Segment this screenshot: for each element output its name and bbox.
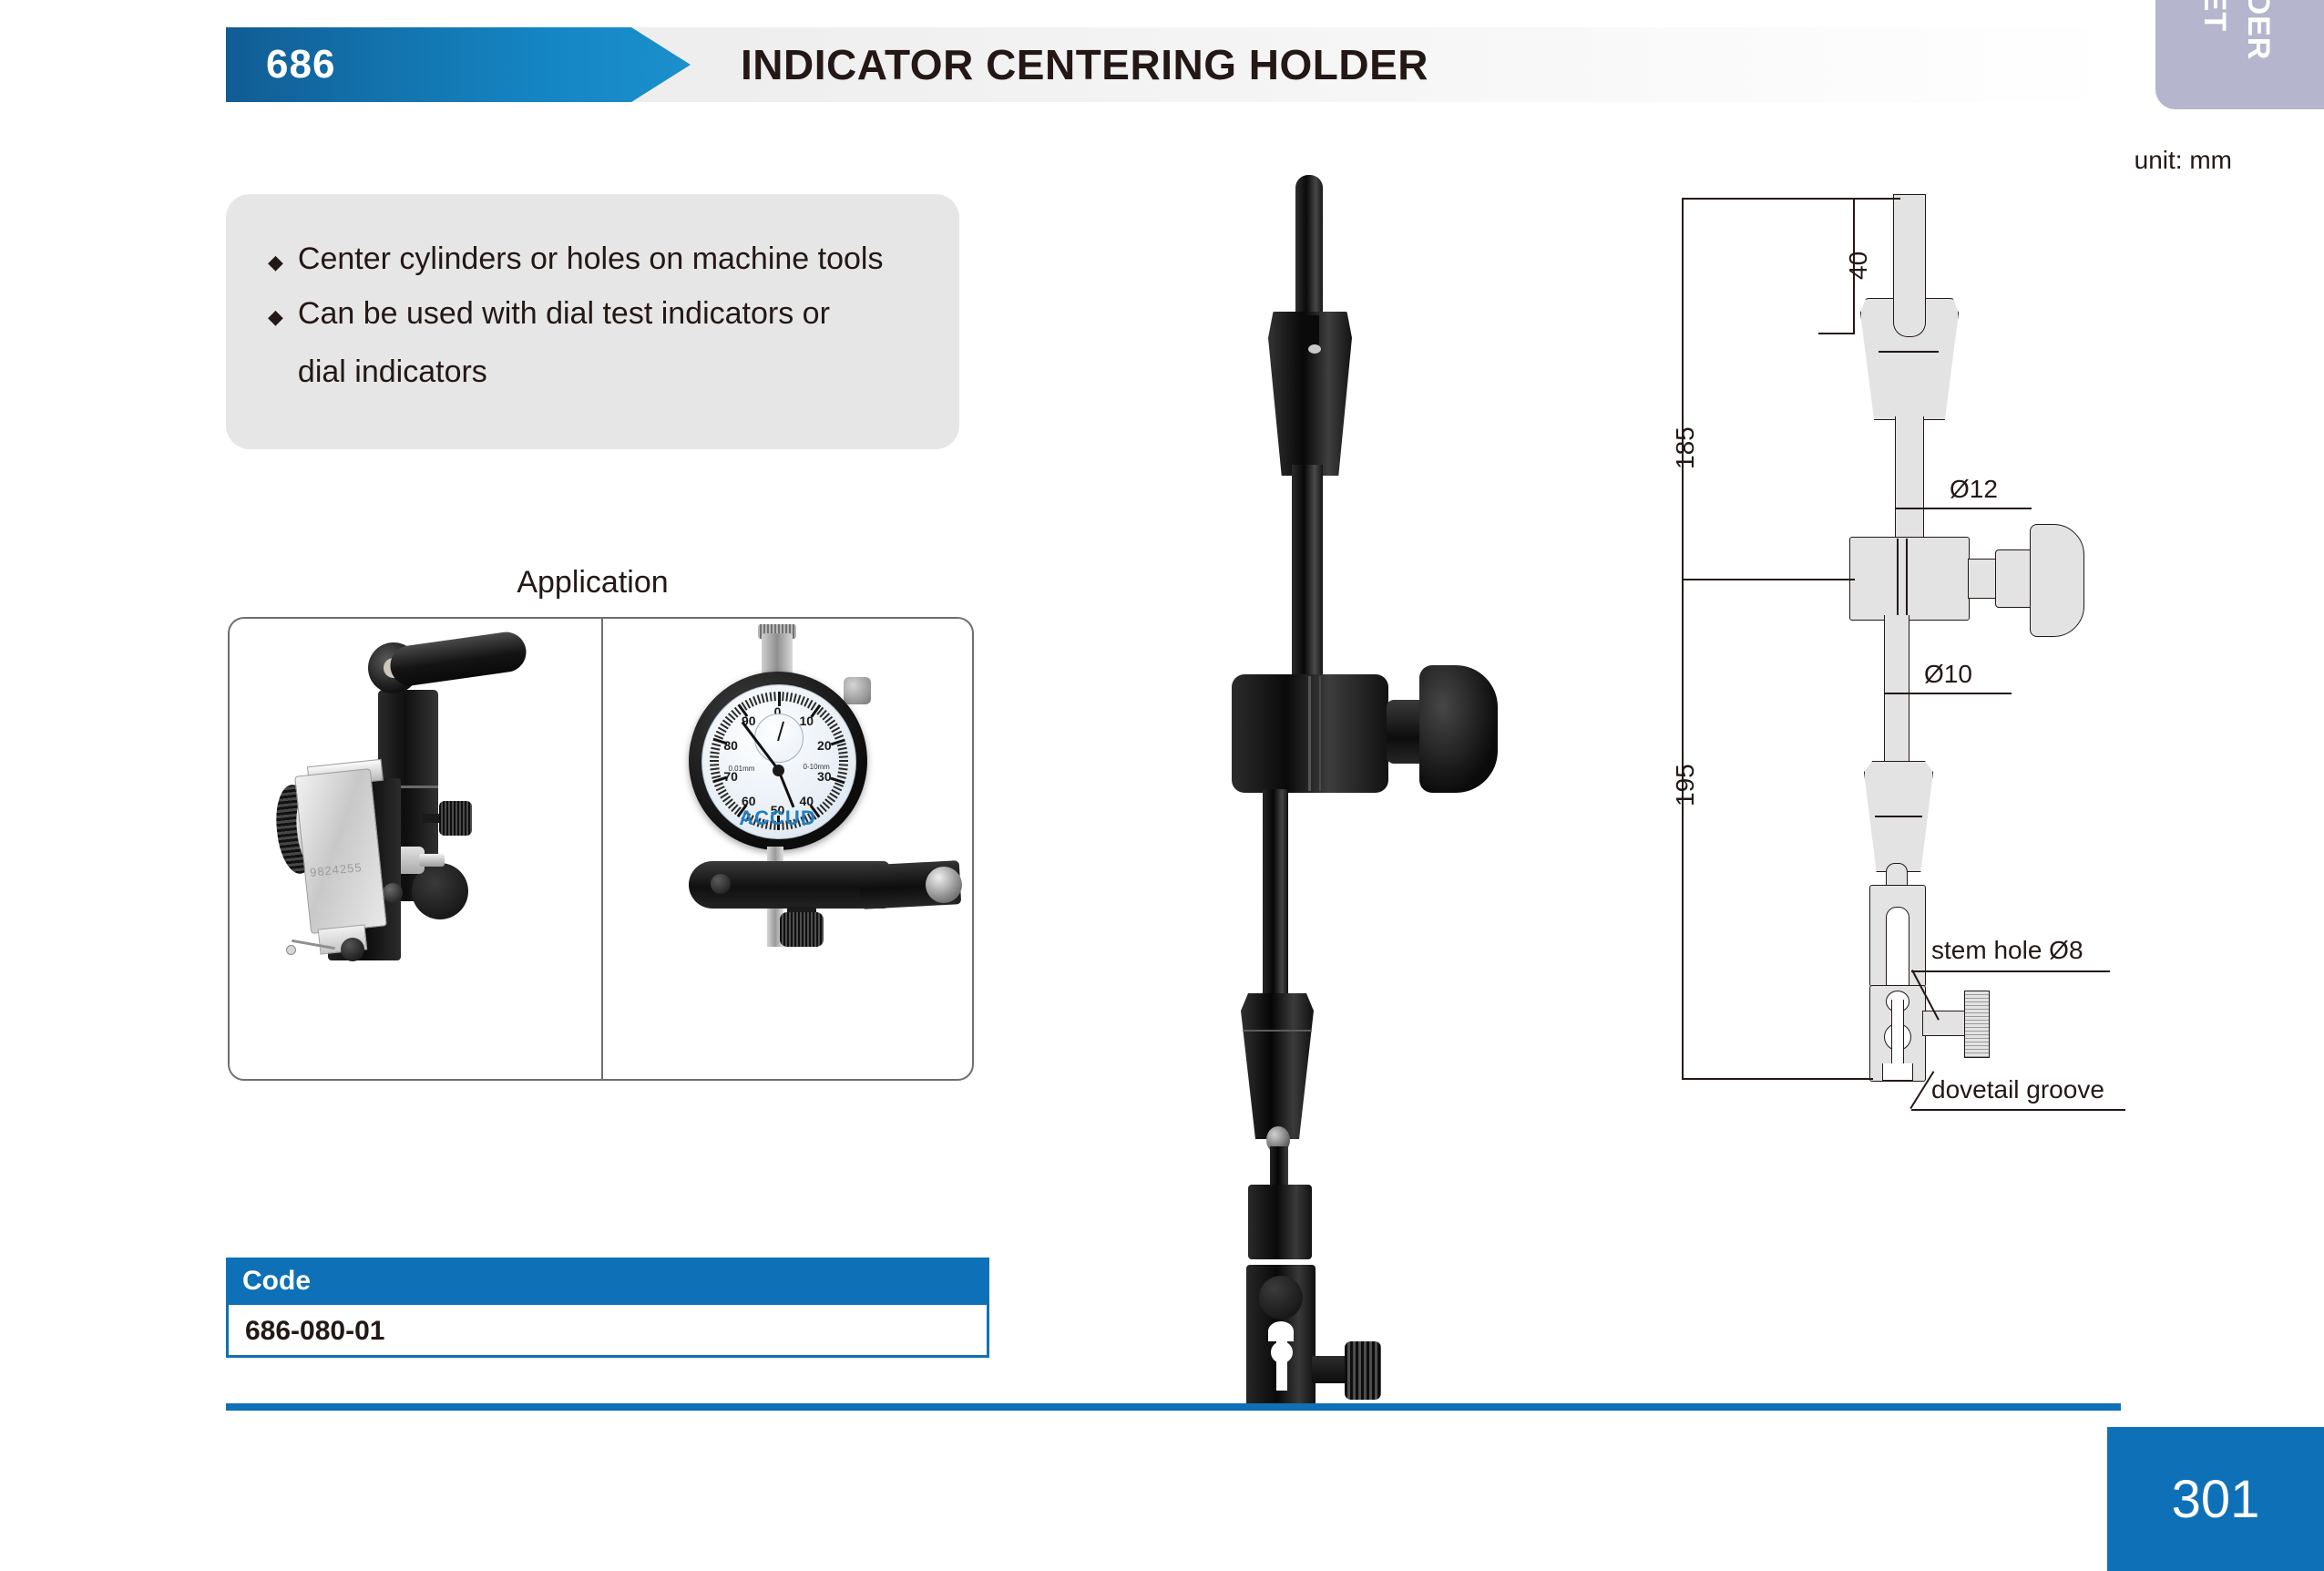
product-collar-hole [1308, 344, 1321, 354]
application-photo-frame: 9824255 0102030405060708090 0.01mm 0-10m… [228, 617, 974, 1081]
technical-drawing: unit: mm [1667, 169, 2232, 1235]
dim-185-ext-bottom [1682, 579, 1855, 580]
holder-clamp-arm-screw [711, 874, 731, 894]
drawing-center-hub [1849, 537, 1970, 621]
product-clamp-block-upper [1248, 1185, 1312, 1259]
corner-tab-line2: SET [2196, 0, 2232, 32]
code-table-header: Code [226, 1258, 989, 1305]
product-dovetail-hole [1271, 1341, 1293, 1363]
product-locking-knob [1419, 665, 1498, 793]
ann-dovetail-text: dovetail groove [1931, 1075, 2104, 1104]
drawing-hub-seam-1 [1897, 539, 1899, 617]
dial-indicator-brand: ACCUD [739, 806, 815, 830]
dial-tick [773, 692, 776, 701]
dim-40-ext-bottom [1818, 333, 1855, 334]
feature-text: Center cylinders or holes on machine too… [298, 241, 884, 276]
dial-tick [838, 755, 847, 758]
dim-185-text: 185 [1671, 426, 1700, 469]
dial-tick [785, 692, 788, 701]
table-row: 686-080-01 [226, 1305, 989, 1358]
page-number-badge: 301 [2107, 1427, 2324, 1571]
application-photo-right: 0102030405060708090 0.01mm 0-10mm ACCUD [601, 619, 973, 1079]
corner-tab-line1: NDER [2240, 0, 2276, 60]
dim-195-line [1682, 580, 1684, 1080]
indicator-pivot-pin [419, 854, 445, 867]
dial-indicator-needle-hub [773, 765, 784, 776]
holder-ball-joint [926, 867, 962, 903]
drawing-unit-label: unit: mm [2135, 146, 2232, 175]
product-lower-collar-seam [1243, 1030, 1312, 1032]
list-item: ◆ Center cylinders or holes on machine t… [268, 241, 937, 276]
dial-tick [711, 771, 720, 775]
dial-tick [839, 760, 848, 762]
dial-number: 80 [723, 738, 738, 753]
product-photo [1130, 137, 1521, 1321]
dial-tick [789, 693, 793, 702]
dial-tick [838, 751, 847, 754]
product-clamp-disc [1259, 1276, 1303, 1319]
drawing-top-stem [1893, 194, 1926, 303]
product-clamp-knurled-knob [1345, 1341, 1381, 1400]
test-indicator-contact-ball [286, 945, 296, 955]
holder-body-screw [383, 883, 403, 903]
list-item: ◆ Can be used with dial test indicators … [268, 296, 937, 389]
product-lower-rod [1263, 789, 1288, 1017]
dial-tick [782, 692, 784, 701]
dial-tick [710, 755, 719, 758]
page-header: 686 INDICATOR CENTERING HOLDER [226, 27, 2121, 102]
ann-stem-hole-text: stem hole Ø8 [1931, 936, 2083, 965]
dial-tick [793, 693, 796, 703]
product-lower-collar [1241, 993, 1314, 1139]
dim-185-line [1682, 198, 1684, 580]
ann-dovetail-leader-h [1911, 1109, 2125, 1111]
feature-text-line2: dial indicators [298, 354, 830, 389]
dim-40-ext-top [1818, 198, 1855, 200]
dim-195-text: 195 [1671, 764, 1700, 806]
dial-indicator-range-label: 0-10mm [804, 763, 830, 772]
dim-40-text: 40 [1844, 252, 1873, 280]
footer-rule [226, 1403, 2121, 1411]
application-label: Application [226, 565, 959, 601]
dial-indicator-lug [844, 677, 871, 704]
features-list: ◆ Center cylinders or holes on machine t… [268, 241, 937, 409]
ann-stem-hole-leader-h [1911, 970, 2110, 972]
catalog-page: 686 INDICATOR CENTERING HOLDER NDER SET … [0, 0, 2324, 1571]
section-corner-tab: NDER SET [2155, 0, 2324, 109]
drawing-clamp-screw-knob [1964, 991, 1990, 1058]
dial-tick [710, 764, 719, 766]
test-indicator-body [294, 768, 387, 934]
feature-text-line1: Can be used with dial test indicators or [298, 296, 830, 331]
drawing-dovetail-groove-notch [1882, 1063, 1913, 1081]
holder-handle [388, 630, 529, 688]
dim-185-ext-top [1682, 198, 1900, 200]
test-indicator-clamp-screw [341, 938, 364, 961]
feature-text: Can be used with dial test indicators or… [298, 296, 830, 389]
drawing-hub-seam-2 [1906, 539, 1908, 617]
product-hub-seam-1 [1308, 676, 1311, 791]
dial-tick [764, 693, 768, 702]
drawing-collar-slot [1893, 298, 1926, 337]
page-title: INDICATOR CENTERING HOLDER [741, 40, 1428, 89]
dim-195-ext-bottom [1682, 1078, 1873, 1080]
dial-tick [769, 692, 772, 701]
drawing-lower-collar-curve [1875, 816, 1922, 817]
dial-number: 20 [817, 738, 832, 753]
drawing-knob-neck [1995, 549, 2033, 608]
diamond-bullet-icon: ◆ [268, 241, 283, 272]
product-hub-seam-2 [1319, 676, 1321, 791]
dim-d12-leader [1895, 508, 2032, 509]
dial-tick [710, 751, 719, 754]
clamp-knurled-knob [439, 801, 472, 836]
drawing-stem-hole [1886, 907, 1909, 987]
code-table: Code 686-080-01 [226, 1258, 989, 1358]
dial-indicator-graduation-label: 0.01mm [729, 765, 755, 774]
dim-d10-text: Ø10 [1924, 660, 1972, 689]
dial-tick [837, 747, 846, 751]
dial-tick [838, 764, 847, 766]
dial-tick [761, 693, 764, 703]
dial-tick [711, 747, 720, 751]
diamond-bullet-icon: ◆ [268, 296, 283, 327]
clamp-knurled-knob [780, 912, 824, 947]
features-panel: ◆ Center cylinders or holes on machine t… [226, 194, 959, 449]
drawing-collar-curve-1 [1879, 351, 1939, 353]
dim-d10-leader [1884, 693, 2012, 694]
dial-indicator-assembly: 0102030405060708090 0.01mm 0-10mm ACCUD [601, 619, 973, 1079]
dial-tick [837, 771, 846, 775]
drawing-knob-head [2030, 524, 2084, 637]
dial-tick [710, 760, 719, 762]
series-number: 686 [266, 42, 335, 87]
dial-number: 10 [799, 714, 814, 728]
dial-tick [838, 767, 847, 770]
dial-tick [712, 743, 721, 746]
application-frame-divider [601, 619, 603, 1079]
drawing-rod-d12 [1895, 416, 1924, 541]
dial-tick [710, 767, 719, 770]
drawing-clamp-screw-shaft [1922, 1011, 1968, 1036]
dim-d12-text: Ø12 [1950, 475, 1998, 504]
product-clamp-screw-stem [1312, 1356, 1348, 1383]
drawing-knob-stem [1968, 559, 1999, 599]
application-photo-left: 9824255 [230, 619, 601, 1079]
